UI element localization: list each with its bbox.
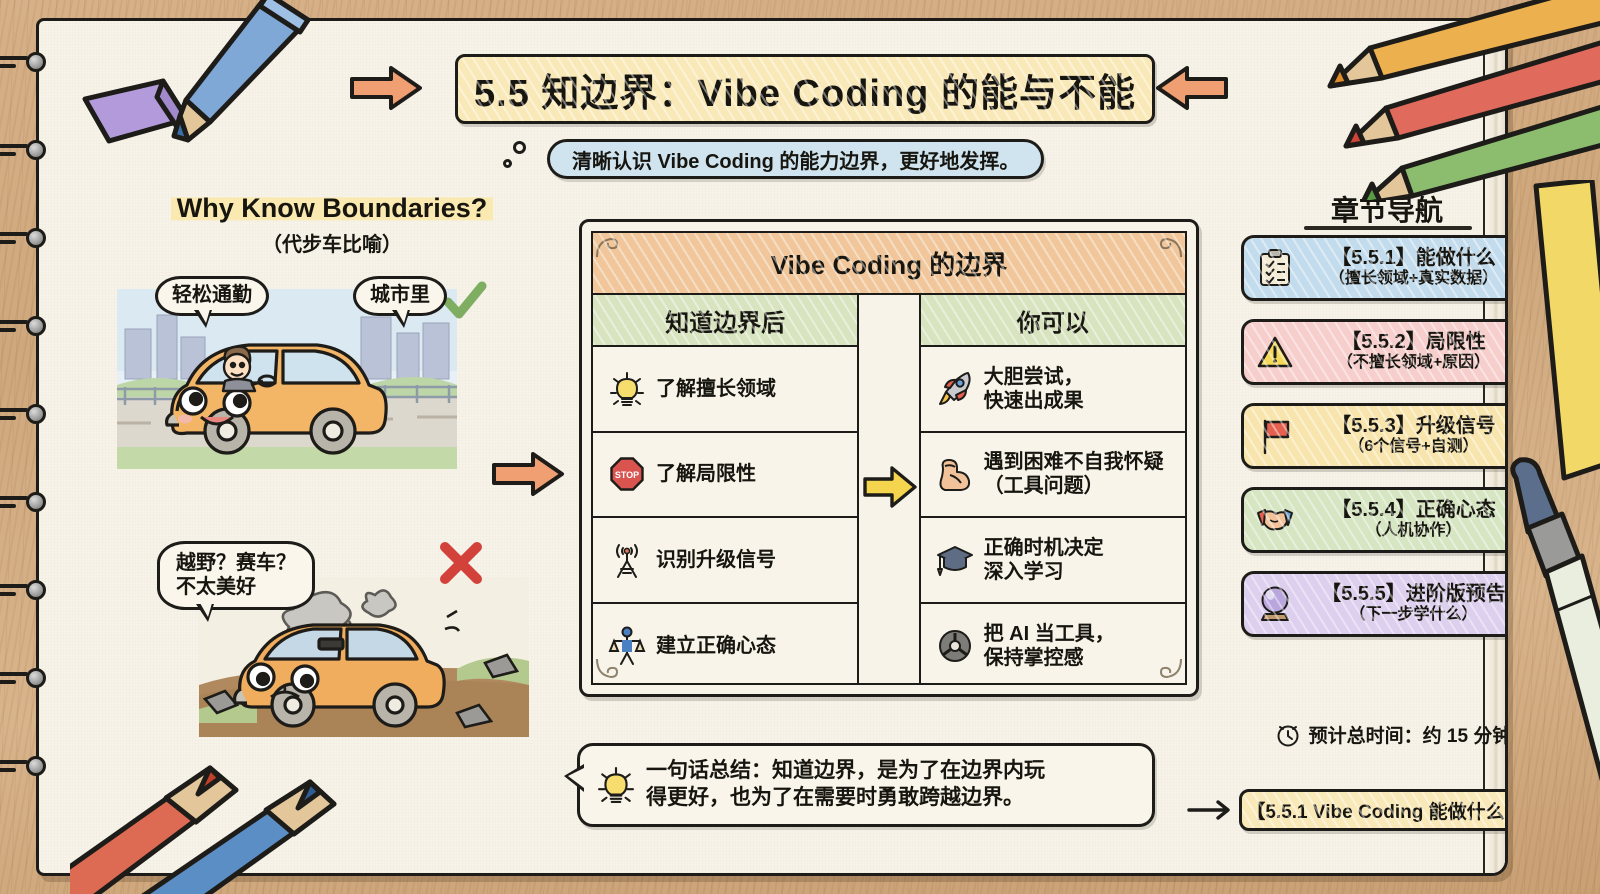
table-column-right: 你可以 [919,295,1185,683]
bubble-dot-large [513,141,526,154]
left-section-heading: Why Know Boundaries? （代步车比喻） [167,193,497,257]
alarm-clock-icon [1275,722,1301,748]
svg-text:STOP: STOP [615,470,639,480]
crystal-ball-icon [1254,585,1296,623]
spiral-ring [0,580,46,600]
table-row: STOP 了解局限性 [593,433,857,519]
table-row: 识别升级信号 [593,518,857,604]
warning-triangle-icon [1254,335,1296,369]
subtitle-text: 清晰认识 Vibe Coding 的能力边界，更好地发挥。 [572,145,1019,174]
nav-item-label: 【5.5.2】局限性 （不擅长领域+原因） [1305,331,1508,372]
check-mark-icon [443,279,487,323]
summary-bubble-tail [564,764,584,792]
title-arrow-left-icon [349,65,423,111]
cross-mark-icon [437,539,485,587]
summary-text: 一句话总结：知道边界，是为了在边界内玩 得更好，也为了在需要时勇敢跨越边界。 [646,758,1045,812]
next-section-cta[interactable]: 【5.5.1 Vibe Coding 能做什么】 [1239,789,1508,831]
table-row: 大胆尝试， 快速出成果 [921,347,1185,433]
estimated-time-row: 预计总时间：约 15 分钟 [1243,721,1508,748]
nav-item-5-5-1[interactable]: 【5.5.1】能做什么 （擅长领域+真实数据） [1241,235,1508,301]
cta-arrow-icon [1187,797,1233,823]
nav-title-underline [1304,226,1472,230]
column-header-right: 你可以 [921,295,1185,347]
bubble-offroad-racing: 越野？赛车？ 不太美好 [157,541,315,610]
cta-label: 【5.5.1 Vibe Coding 能做什么】 [1246,797,1508,824]
table-row: 遇到困难不自我怀疑 （工具问题） [921,433,1185,519]
title-area: 5.5 知边界：Vibe Coding 的能与不能 [435,53,1175,125]
pencil-pair-bottom-left [70,760,410,894]
handshake-icon [1254,505,1296,535]
table-row: 建立正确心态 [593,604,857,686]
nav-item-5-5-3[interactable]: 【5.5.3】升级信号 （6个信号+自测） [1241,403,1508,469]
corner-flourish-tl-icon [595,235,621,261]
spiral-ring [0,140,46,160]
left-to-table-arrow-icon [491,451,565,497]
table-row: 了解擅长领域 [593,347,857,433]
estimated-time-text: 预计总时间：约 15 分钟 [1309,721,1508,748]
table-row: 把 AI 当工具， 保持掌控感 [921,604,1185,686]
subtitle-bubble: 清晰认识 Vibe Coding 的能力边界，更好地发挥。 [547,139,1044,179]
graduation-cap-icon [935,543,975,577]
table-column-gap [859,295,918,683]
stop-sign-icon: STOP [607,457,647,491]
boundaries-table-inner: Vibe Coding 的边界 知道边界后 [591,231,1187,685]
steering-wheel-icon [935,628,975,664]
blue-pencil-top-left [150,0,310,144]
boundaries-table: Vibe Coding 的边界 知道边界后 [579,219,1199,697]
pencil-cluster-top-right [1270,0,1600,200]
rocket-icon [935,370,975,408]
corner-flourish-bl-icon [595,655,621,681]
antenna-tower-icon [607,541,647,579]
table-header: Vibe Coding 的边界 [593,233,1185,295]
marker-pen-right [1480,420,1600,840]
nav-item-label: 【5.5.1】能做什么 （擅长领域+真实数据） [1305,247,1508,288]
spiral-ring [0,404,46,424]
nav-item-label: 【5.5.3】升级信号 （6个信号+自测） [1305,415,1508,456]
spiral-ring [0,316,46,336]
desk-background: 5.5 知边界：Vibe Coding 的能与不能 清晰认识 Vibe Codi… [0,0,1600,894]
lightbulb-icon [596,765,636,805]
table-center-arrow-icon [862,465,918,509]
lightbulb-icon [607,371,647,407]
nav-item-label: 【5.5.5】进阶版预告 （下一步学什么） [1305,583,1508,624]
red-flag-icon [1254,417,1296,455]
spiral-ring [0,668,46,688]
spiral-ring [0,492,46,512]
nav-item-label: 【5.5.4】正确心态 （人机协作） [1305,499,1508,540]
nav-item-5-5-4[interactable]: 【5.5.4】正确心态 （人机协作） [1241,487,1508,553]
spiral-ring [0,52,46,72]
why-know-boundaries-subtitle: （代步车比喻） [167,228,497,257]
why-know-boundaries-title: Why Know Boundaries? [171,193,494,224]
corner-flourish-br-icon [1157,655,1183,681]
bubble-dot-small [503,159,512,168]
nav-item-5-5-5[interactable]: 【5.5.5】进阶版预告 （下一步学什么） [1241,571,1508,637]
title-banner: 5.5 知边界：Vibe Coding 的能与不能 [455,54,1155,124]
clipboard-checklist-icon [1254,249,1296,287]
nav-item-5-5-2[interactable]: 【5.5.2】局限性 （不擅长领域+原因） [1241,319,1508,385]
page-title: 5.5 知边界：Vibe Coding 的能与不能 [474,62,1136,117]
column-header-left: 知道边界后 [593,295,857,347]
title-arrow-right-icon [1155,65,1229,111]
bubble-easy-commute: 轻松通勤 [155,276,269,316]
corner-flourish-tr-icon [1157,235,1183,261]
flexed-biceps-icon [935,456,975,492]
table-body: 知道边界后 了 [593,295,1185,683]
bubble-in-city: 城市里 [353,276,447,316]
spiral-ring [0,756,46,776]
table-row: 正确时机决定 深入学习 [921,518,1185,604]
summary-bubble: 一句话总结：知道边界，是为了在边界内玩 得更好，也为了在需要时勇敢跨越边界。 [577,743,1155,827]
spiral-ring [0,228,46,248]
table-column-left: 知道边界后 了 [593,295,859,683]
